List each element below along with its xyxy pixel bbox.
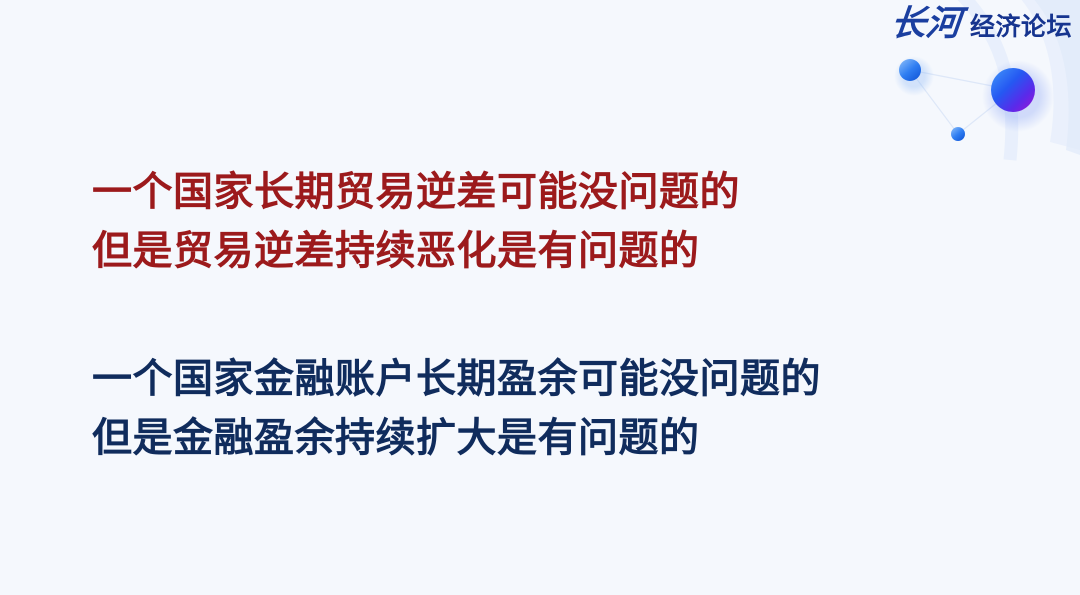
statement-line: 但是金融盈余持续扩大是有问题的 <box>92 409 992 468</box>
slide-canvas: 长河 经济论坛 一个国家长期贸易逆差可能没问题的 但是贸易逆差持续恶化是有问题的… <box>0 0 1080 595</box>
statement-line: 一个国家金融账户长期盈余可能没问题的 <box>92 350 992 409</box>
statement-line: 一个国家长期贸易逆差可能没问题的 <box>92 163 992 222</box>
connector-lines <box>910 70 1013 134</box>
brand-script-text: 长河 <box>889 6 963 41</box>
trade-deficit-statement: 一个国家长期贸易逆差可能没问题的 但是贸易逆差持续恶化是有问题的 <box>92 163 992 281</box>
node-glow-large <box>982 60 1054 132</box>
brand-sub-text: 经济论坛 <box>970 14 1072 39</box>
slide-content: 一个国家长期贸易逆差可能没问题的 但是贸易逆差持续恶化是有问题的 一个国家金融账… <box>92 163 992 468</box>
brand-logo: 长河 经济论坛 <box>891 6 1072 41</box>
statement-line: 但是贸易逆差持续恶化是有问题的 <box>92 222 992 281</box>
node-small-top-icon <box>899 59 921 81</box>
financial-surplus-statement: 一个国家金融账户长期盈余可能没问题的 但是金融盈余持续扩大是有问题的 <box>92 350 992 468</box>
node-large-right-icon <box>991 68 1035 112</box>
node-glow-small <box>894 56 934 96</box>
node-tiny-bottom-icon <box>951 127 965 141</box>
